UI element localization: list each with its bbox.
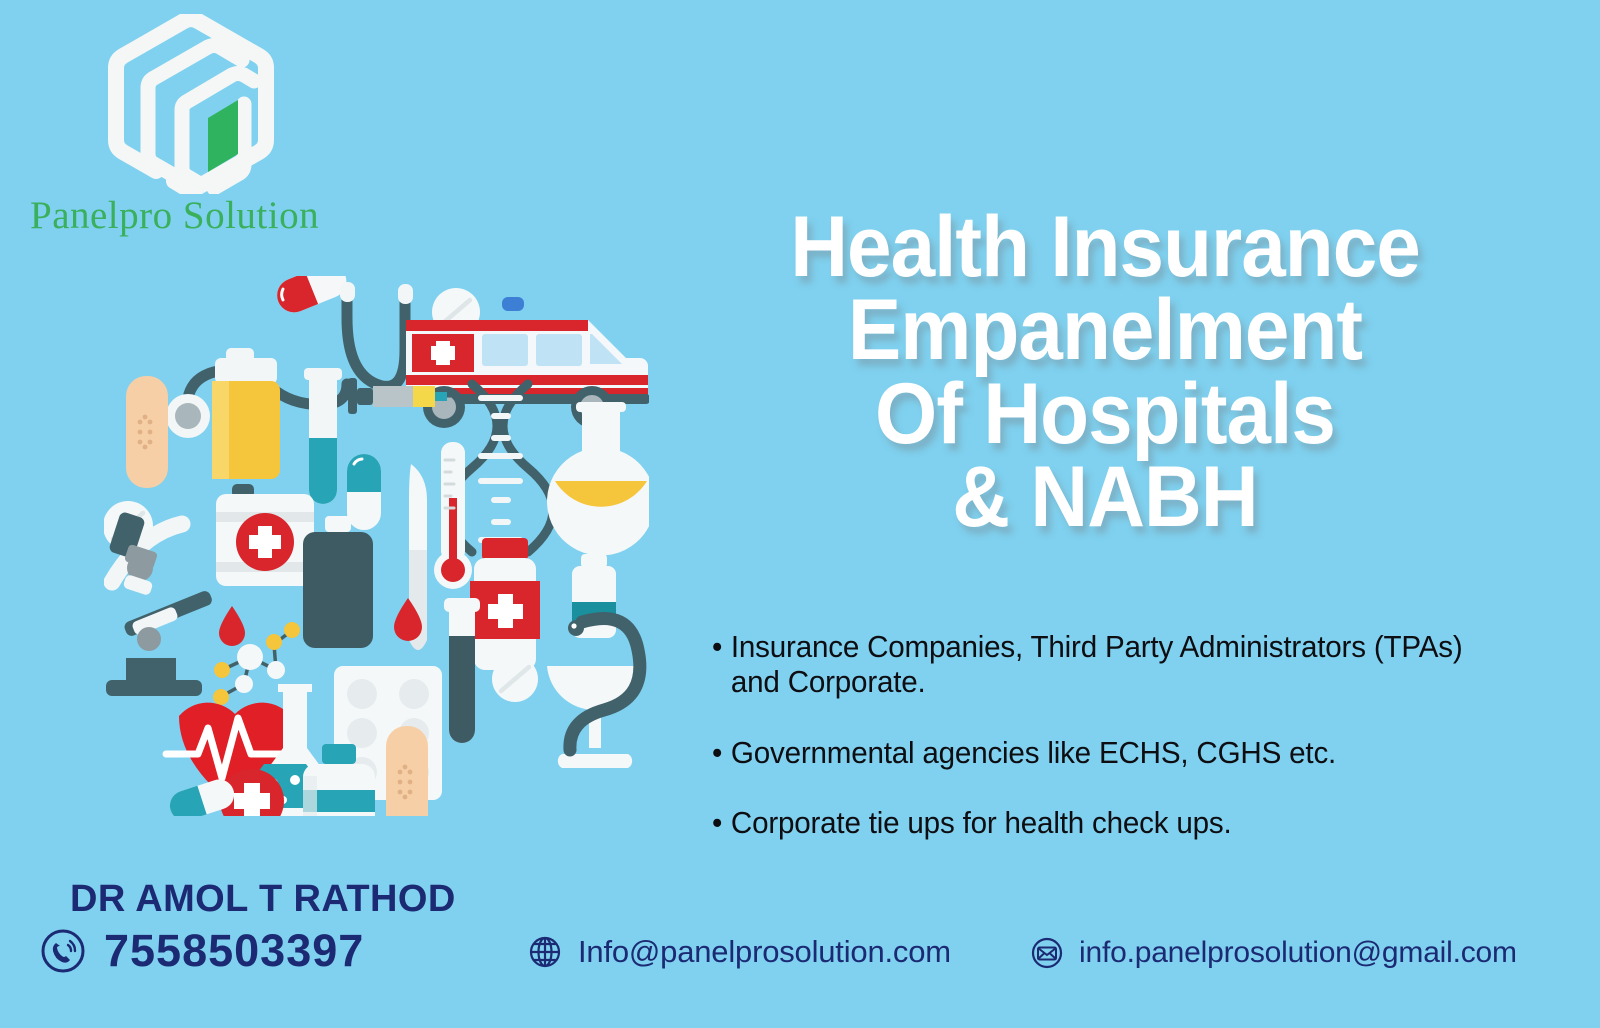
first-aid-kit-icon (216, 484, 314, 586)
medicine-bottle-red-cross-icon (470, 538, 540, 670)
round-flask-yellow-icon (547, 402, 649, 556)
adhesive-bandage-icon (126, 376, 168, 488)
headline-line-2: Empanelment (691, 289, 1519, 372)
adhesive-bandage-bottom-icon (386, 726, 428, 816)
headline-line-4: & NABH (691, 456, 1519, 539)
headline-line-3: Of Hospitals (691, 373, 1519, 456)
stethoscope-chestpiece-icon (166, 394, 210, 438)
test-tube-dark-icon (444, 598, 480, 743)
bullet-marker: • (712, 806, 722, 841)
microscope-icon (106, 511, 214, 696)
medical-icons-collage (104, 276, 649, 816)
email-address: info.panelprosolution@gmail.com (1079, 936, 1517, 970)
list-item: • Governmental agencies like ECHS, CGHS … (712, 736, 1517, 771)
pill-bottle-yellow-icon (212, 348, 280, 479)
list-item-label: Insurance Companies, Third Party Adminis… (731, 630, 1517, 701)
list-item-label: Corporate tie ups for health check ups. (731, 806, 1517, 841)
capsule-pill-red-icon (272, 276, 351, 318)
dark-bottle-icon (303, 516, 373, 648)
phone-contact[interactable]: 7558503397 (40, 925, 364, 977)
phone-circle-icon (40, 928, 86, 974)
service-list: • Insurance Companies, Third Party Admin… (712, 630, 1542, 877)
doctor-name: DR AMOL T RATHOD (70, 878, 456, 921)
capsule-pill-teal-icon (347, 454, 381, 530)
website-address: Info@panelprosolution.com (578, 934, 951, 970)
headline-line-1: Health Insurance (691, 206, 1519, 289)
page-title: Health Insurance Empanelment Of Hospital… (691, 206, 1519, 540)
envelope-circle-icon (1030, 936, 1064, 970)
list-item-label: Governmental agencies like ECHS, CGHS et… (731, 736, 1517, 771)
bullet-marker: • (712, 630, 722, 665)
globe-icon (528, 935, 562, 969)
brand-name: Panelpro Solution (30, 193, 350, 238)
round-tablet-mid-icon (492, 656, 538, 702)
poster-canvas: Panelpro Solution (0, 0, 1600, 1028)
list-item: • Corporate tie ups for health check ups… (712, 806, 1517, 841)
test-tube-teal-icon (304, 368, 342, 504)
list-item: • Insurance Companies, Third Party Admin… (712, 630, 1517, 701)
brand-logo: Panelpro Solution (14, 10, 344, 240)
website-contact[interactable]: Info@panelprosolution.com (528, 934, 951, 970)
thermometer-icon (434, 442, 472, 589)
phone-number: 7558503397 (104, 925, 364, 977)
email-contact[interactable]: info.panelprosolution@gmail.com (1030, 936, 1517, 970)
hexagon-layers-logo-icon (96, 14, 286, 194)
bullet-marker: • (712, 736, 722, 771)
bowl-of-hygieia-icon (547, 619, 643, 769)
stethoscope-earpieces-icon (340, 282, 413, 304)
